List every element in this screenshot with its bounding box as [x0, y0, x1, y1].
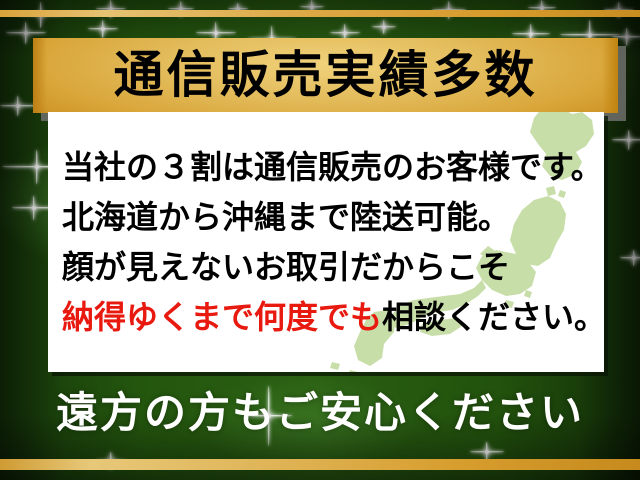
panel-line-4-black-text: 相談ください。 [382, 298, 604, 336]
header-gold-plate: 通信販売実績多数 [33, 38, 618, 113]
bottom-gold-rule [0, 459, 640, 470]
plate-right-edge [602, 38, 618, 113]
panel-text-lines: 当社の３割は通信販売のお客様です。 北海道から沖縄まで陸送可能。 顔が見えないお… [62, 142, 598, 342]
content-panel: 当社の３割は通信販売のお客様です。 北海道から沖縄まで陸送可能。 顔が見えないお… [48, 112, 604, 372]
panel-line-3: 顔が見えないお取引だからこそ [62, 242, 598, 292]
advertisement-banner: 通信販売実績多数 [0, 0, 640, 480]
panel-line-1: 当社の３割は通信販売のお客様です。 [62, 142, 598, 192]
top-gold-rule [0, 10, 640, 17]
panel-line-4-red-text: 納得ゆくまで何度でも [62, 298, 382, 336]
plate-left-edge [33, 38, 47, 113]
panel-line-4: 納得ゆくまで何度でも相談ください。 [62, 292, 598, 342]
panel-line-2: 北海道から沖縄まで陸送可能。 [62, 192, 598, 242]
footer-text: 遠方の方もご安心ください [0, 385, 640, 441]
headline-text: 通信販売実績多数 [114, 50, 538, 102]
